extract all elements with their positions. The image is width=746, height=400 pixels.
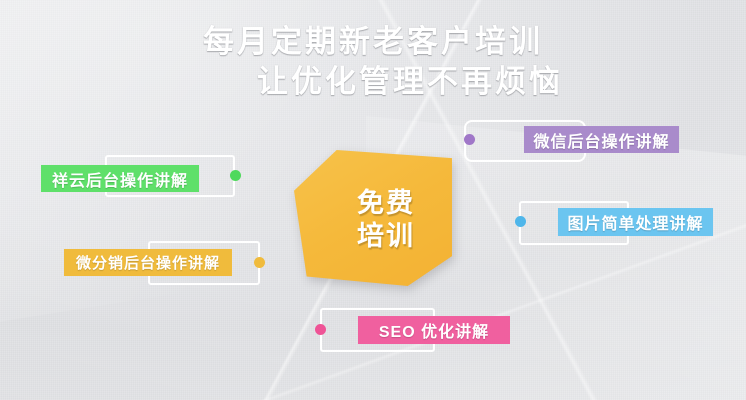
topic-label-xiangyun[interactable]: 祥云后台操作讲解	[41, 165, 199, 192]
free-training-hexagon[interactable]: 免费 培训	[294, 150, 452, 286]
topic-label-weixin[interactable]: 微信后台操作讲解	[524, 126, 679, 153]
connector-dot-seo	[315, 324, 326, 335]
hexagon-shape	[294, 150, 452, 286]
headline-line-1: 每月定期新老客户培训	[0, 22, 746, 62]
connector-dot-weifenxiao	[254, 257, 265, 268]
topic-label-seo[interactable]: SEO 优化讲解	[358, 316, 510, 344]
headline: 每月定期新老客户培训 让优化管理不再烦恼	[0, 22, 746, 102]
topic-label-weifenxiao[interactable]: 微分销后台操作讲解	[64, 249, 232, 276]
headline-line-2: 让优化管理不再烦恼	[0, 62, 746, 102]
topic-label-tupian[interactable]: 图片简单处理讲解	[558, 208, 713, 236]
connector-dot-tupian	[515, 216, 526, 227]
promo-poster: 每月定期新老客户培训 让优化管理不再烦恼 祥云后台操作讲解 微信后台操作讲解 微…	[0, 0, 746, 400]
connector-dot-weixin	[464, 134, 475, 145]
connector-dot-xiangyun	[230, 170, 241, 181]
